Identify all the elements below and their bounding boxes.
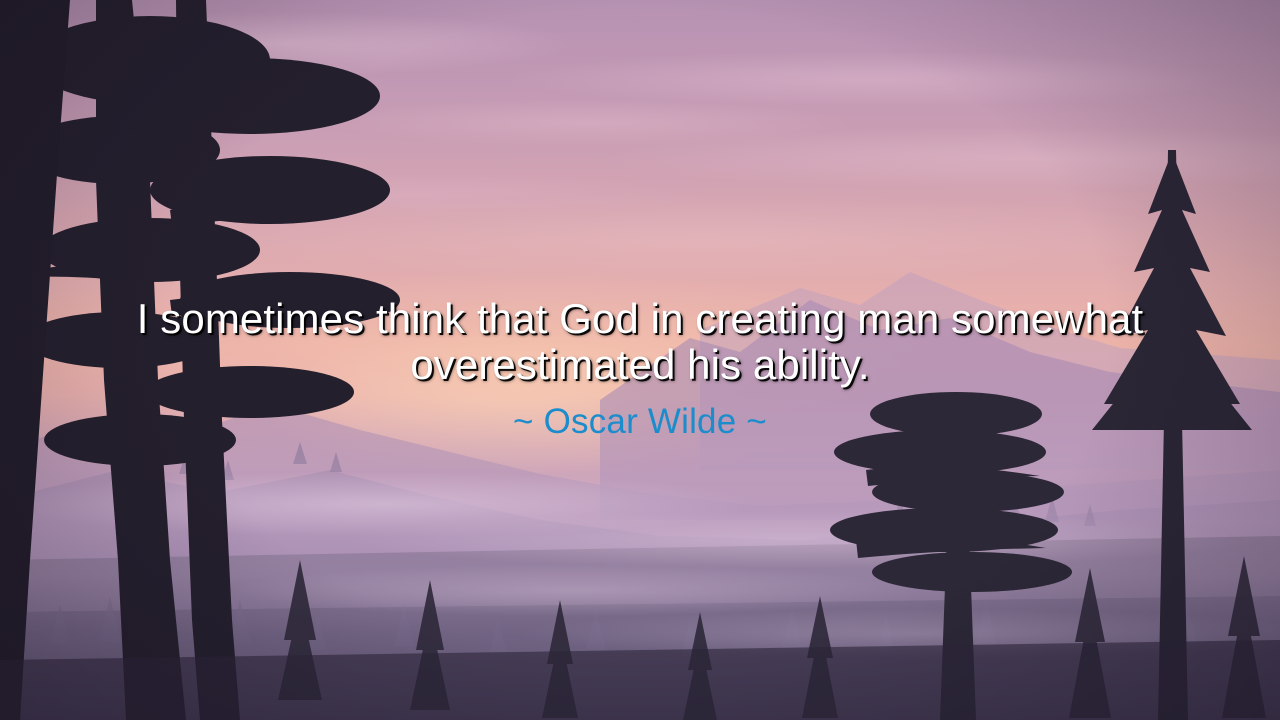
quote-author: ~ Oscar Wilde ~ <box>96 402 1184 442</box>
quote-block: I sometimes think that God in creating m… <box>0 296 1280 442</box>
wallpaper-quote-screen: I sometimes think that God in creating m… <box>0 0 1280 720</box>
quote-text: I sometimes think that God in creating m… <box>96 296 1184 388</box>
